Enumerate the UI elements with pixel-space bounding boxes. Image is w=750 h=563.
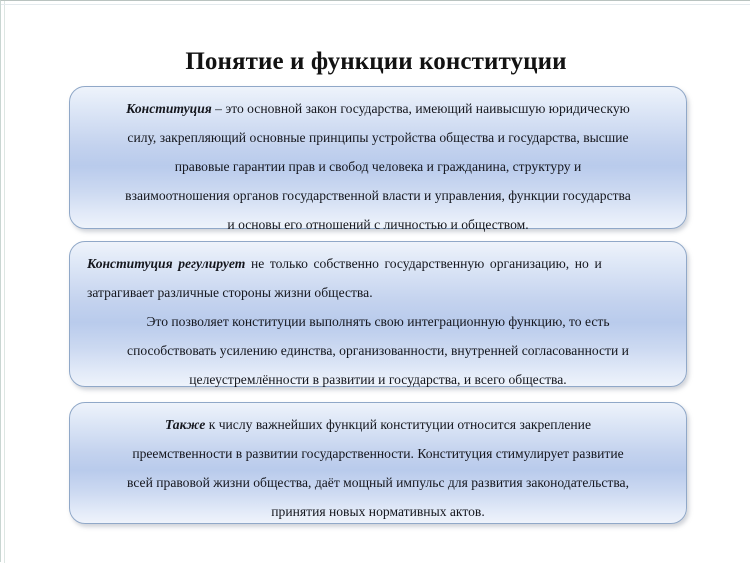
- regulates-paragraph: Конституция регулирует не только собстве…: [70, 249, 686, 394]
- callout-box-continuity: Также к числу важнейших функций конститу…: [69, 402, 687, 524]
- regulates-line-1-rest: не только собственно государственную орг…: [245, 256, 601, 271]
- page-title: Понятие и функции конституции: [1, 48, 750, 77]
- definition-line-1-rest: – это основной закон государства, имеющи…: [212, 101, 630, 116]
- definition-line-2: силу, закрепляющий основные принципы уст…: [87, 123, 669, 152]
- continuity-line-3: всей правовой жизни общества, даёт мощны…: [87, 468, 669, 497]
- definition-line-1: Конституция – это основной закон государ…: [87, 94, 669, 123]
- definition-line-4: взаимоотношения органов государственной …: [87, 181, 669, 210]
- regulates-line-1: Конституция регулирует не только собстве…: [87, 249, 669, 278]
- continuity-line-1: Также к числу важнейших функций конститу…: [87, 410, 669, 439]
- definition-lead-term: Конституция: [126, 101, 212, 116]
- definition-line-3: правовые гарантии прав и свобод человека…: [87, 152, 669, 181]
- slide-left-edge-rule: [4, 1, 5, 563]
- callout-box-definition: Конституция – это основной закон государ…: [69, 86, 687, 229]
- regulates-line-5: целеустремлённости в развитии и государс…: [87, 365, 669, 394]
- continuity-line-4: принятия новых нормативных актов.: [87, 497, 669, 526]
- regulates-lead-term: Конституция регулирует: [87, 256, 245, 271]
- slide-canvas: Понятие и функции конституции Конституци…: [0, 0, 750, 562]
- continuity-line-1-rest: к числу важнейших функций конституции от…: [205, 417, 591, 432]
- continuity-lead-term: Также: [165, 417, 205, 432]
- slide-top-edge-rule: [1, 4, 750, 5]
- definition-line-5: и основы его отношений с личностью и общ…: [87, 210, 669, 239]
- callout-box-regulates: Конституция регулирует не только собстве…: [69, 241, 687, 387]
- regulates-line-3: Это позволяет конституции выполнять свою…: [87, 307, 669, 336]
- continuity-line-2: преемственности в развитии государственн…: [87, 439, 669, 468]
- continuity-paragraph: Также к числу важнейших функций конститу…: [70, 410, 686, 526]
- definition-paragraph: Конституция – это основной закон государ…: [70, 94, 686, 239]
- regulates-line-4: способствовать усилению единства, органи…: [87, 336, 669, 365]
- regulates-line-2: затрагивает различные стороны жизни обще…: [87, 278, 669, 307]
